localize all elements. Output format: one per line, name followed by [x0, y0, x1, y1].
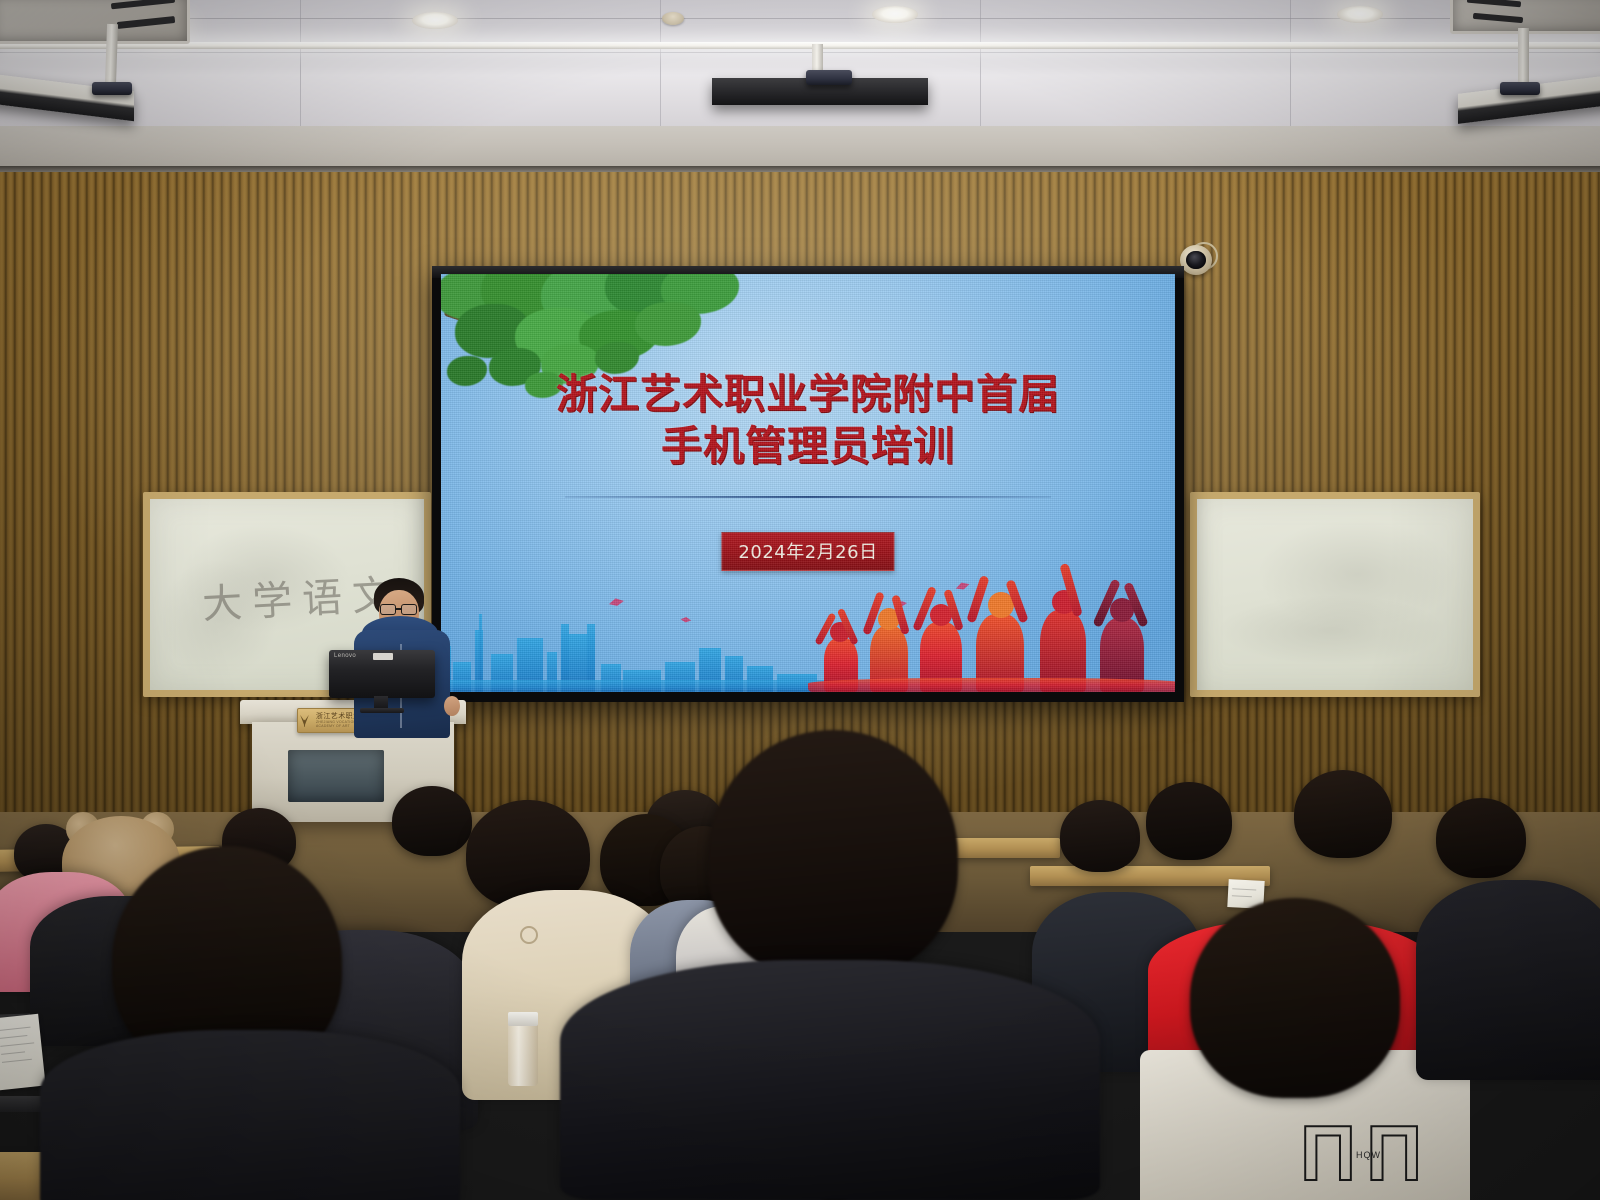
whiteboard-right — [1190, 492, 1480, 697]
projector — [806, 70, 852, 85]
crowd-silhouette-graphic — [808, 574, 1175, 692]
led-cove-strip — [0, 42, 1600, 49]
presenter-hand — [444, 696, 460, 716]
monitor-badge — [373, 653, 393, 660]
jacket-logo-icon — [520, 926, 538, 944]
monitor-base — [360, 708, 404, 713]
ceiling-downlight — [412, 12, 458, 29]
water-bottle[interactable] — [508, 1020, 538, 1086]
air-vent-panel — [0, 0, 190, 44]
lecture-hall-photo: 大学语文 — [0, 0, 1600, 1200]
school-logo-icon — [298, 713, 311, 728]
projector — [92, 82, 132, 95]
slide-title-line1: 浙江艺术职业学院附中首届 — [441, 370, 1175, 418]
foreground-audience-body — [560, 960, 1100, 1200]
projection-screen-frame: 浙江艺术职业学院附中首届 手机管理员培训 2024年2月26日 — [432, 266, 1184, 702]
monitor-brand-label: Lenovo — [334, 653, 356, 659]
handout-paper[interactable] — [0, 1014, 46, 1090]
audience-head — [1294, 770, 1392, 858]
ceiling-downlight — [1337, 6, 1383, 23]
smoke-detector-icon — [662, 12, 684, 25]
audience-head — [1436, 798, 1526, 878]
whiteboard-marker[interactable] — [1315, 690, 1337, 696]
audience-head — [392, 786, 472, 856]
ceiling-downlight — [872, 6, 918, 23]
jacket-hqw-label: HQW — [1356, 1150, 1381, 1160]
glasses-icon — [379, 604, 419, 616]
audience-head — [1060, 800, 1140, 872]
foreground-audience-head — [708, 730, 958, 980]
audience-head — [1146, 782, 1232, 860]
presenter-monitor: Lenovo — [329, 650, 435, 698]
bottle-cap — [508, 1012, 538, 1026]
slide-title-line2: 手机管理员培训 — [441, 422, 1175, 470]
podium-control-panel[interactable] — [288, 750, 384, 802]
bird-icon — [608, 597, 624, 604]
projector — [1500, 82, 1540, 95]
marker-tray — [1293, 691, 1413, 697]
projection-screen: 浙江艺术职业学院附中首届 手机管理员培训 2024年2月26日 — [441, 274, 1175, 692]
projector-mount — [105, 24, 118, 86]
slide-date-badge: 2024年2月26日 — [721, 532, 894, 571]
audience-body — [1416, 880, 1600, 1080]
dome-camera-icon[interactable] — [1180, 245, 1212, 275]
ceiling — [0, 0, 1600, 126]
slide-divider-rule — [565, 496, 1051, 498]
foreground-audience-body — [40, 1030, 460, 1200]
whiteboard-marker[interactable] — [1349, 691, 1375, 697]
projector-mount — [1518, 28, 1529, 86]
foreground-audience-head — [1190, 898, 1400, 1098]
